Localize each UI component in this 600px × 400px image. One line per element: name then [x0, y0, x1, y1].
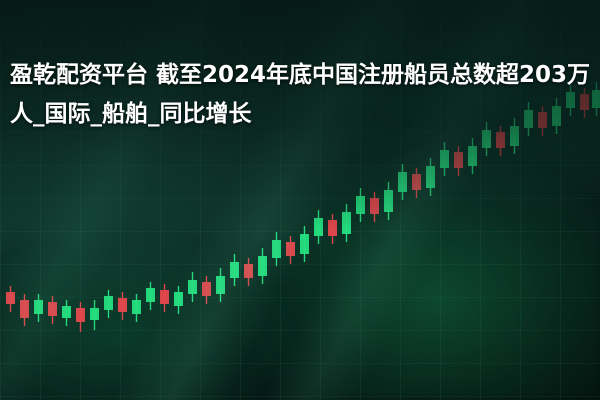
news-thumbnail-image: 盈乾配资平台 截至2024年底中国注册船员总数超203万人_国际_船舶_同比增长: [0, 0, 600, 400]
headline-text: 盈乾配资平台 截至2024年底中国注册船员总数超203万人_国际_船舶_同比增长: [10, 56, 592, 134]
